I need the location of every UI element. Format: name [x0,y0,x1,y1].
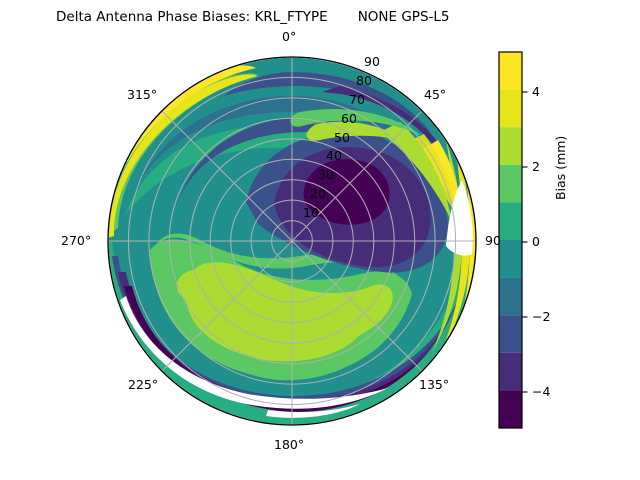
colorbar-tick-label-minus4: −4 [532,384,550,399]
radial-label-10: 10 [303,205,319,220]
azimuth-label-180: 180° [274,437,304,452]
radial-label-70: 70 [349,92,365,107]
colorbar-axis-label: Bias (mm) [553,80,568,200]
colorbar-tick-label-minus2: −2 [532,309,550,324]
radial-label-80: 80 [356,73,372,88]
polar-grid [108,57,476,425]
colorbar-band-4 [499,240,522,278]
colorbar-ticks [522,92,528,392]
colorbar-band-5 [499,202,522,240]
polar-contour-plot [0,0,640,480]
azimuth-label-45: 45° [424,87,446,102]
figure-canvas: Delta Antenna Phase Biases: KRL_FTYPE NO… [0,0,640,480]
colorbar-band-3 [499,278,522,316]
azimuth-label-225: 225° [128,377,158,392]
colorbar-band-8 [499,90,522,128]
azimuth-label-90: 90 [485,233,501,248]
radial-label-40: 40 [326,148,342,163]
radial-label-90: 90 [364,54,380,69]
azimuth-label-315: 315° [127,87,157,102]
colorbar-tick-label-2: 2 [532,159,540,174]
colorbar-band-0 [499,390,522,428]
azimuth-label-270: 270° [61,233,91,248]
azimuth-label-135: 135° [419,377,449,392]
azimuth-label-0: 0° [282,29,296,44]
radial-label-60: 60 [341,111,357,126]
colorbar-band-9 [499,52,522,90]
colorbar-band-1 [499,353,522,391]
colorbar[interactable] [499,52,528,428]
colorbar-gradient [499,52,522,428]
colorbar-band-2 [499,315,522,353]
radial-label-30: 30 [318,167,334,182]
colorbar-tick-label-0: 0 [532,234,540,249]
colorbar-band-7 [499,127,522,165]
colorbar-tick-label-4: 4 [532,84,540,99]
colorbar-band-6 [499,165,522,203]
radial-label-50: 50 [334,130,350,145]
radial-label-20: 20 [310,186,326,201]
